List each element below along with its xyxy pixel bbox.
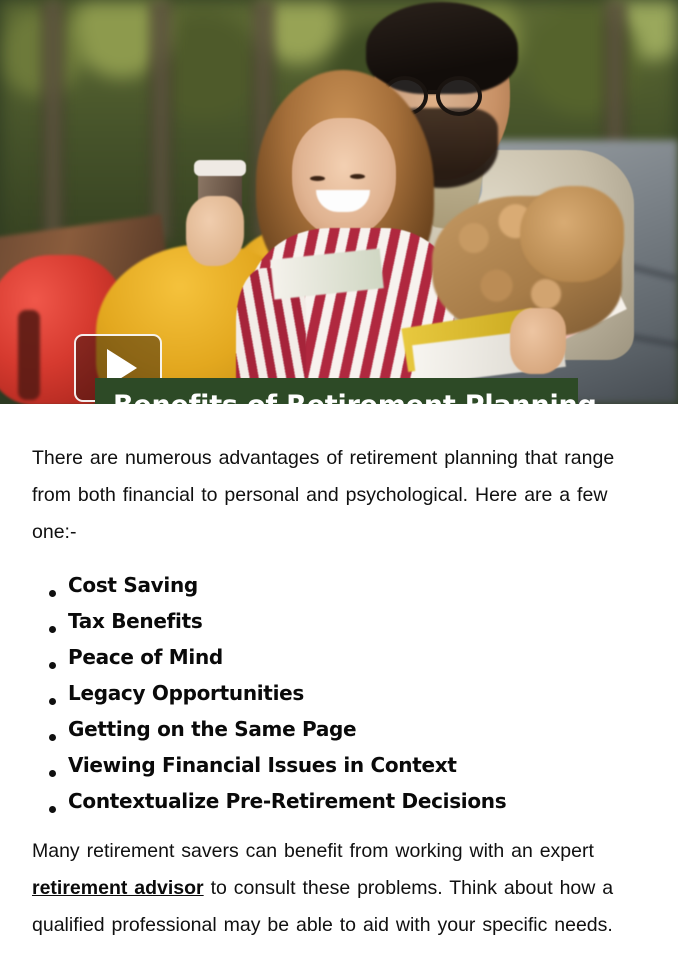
eyeglasses-bridge <box>428 90 438 94</box>
page-title: Benefits of Retirement Planning <box>95 390 597 405</box>
list-item: Contextualize Pre-Retirement Decisions <box>32 783 646 819</box>
outro-text-before: Many retirement savers can benefit from … <box>32 840 594 862</box>
eyeglasses <box>436 76 482 116</box>
dog-head <box>520 186 624 282</box>
outro-paragraph: Many retirement savers can benefit from … <box>32 833 646 944</box>
list-item: Viewing Financial Issues in Context <box>32 747 646 783</box>
woman-hand <box>186 196 244 266</box>
man-hand <box>510 308 566 374</box>
article-page: Benefits of Retirement Planning There ar… <box>0 0 678 960</box>
woman-face <box>292 118 396 238</box>
list-item: Legacy Opportunities <box>32 675 646 711</box>
backpack-strap <box>18 310 40 400</box>
retirement-advisor-link[interactable]: retirement advisor <box>32 877 204 899</box>
benefits-list: Cost Saving Tax Benefits Peace of Mind L… <box>32 567 646 819</box>
coffee-cup-lid <box>194 160 246 176</box>
list-item: Getting on the Same Page <box>32 711 646 747</box>
intro-paragraph: There are numerous advantages of retirem… <box>32 440 646 551</box>
hero-video-thumbnail[interactable]: Benefits of Retirement Planning <box>0 0 678 404</box>
hero-title-banner: Benefits of Retirement Planning <box>95 378 578 404</box>
list-item: Cost Saving <box>32 567 646 603</box>
article-body: There are numerous advantages of retirem… <box>0 440 678 944</box>
woman-eye <box>350 174 365 179</box>
woman-eye <box>310 176 325 181</box>
list-item: Tax Benefits <box>32 603 646 639</box>
tree-trunk <box>150 0 172 240</box>
tree-trunk <box>42 0 64 240</box>
list-item: Peace of Mind <box>32 639 646 675</box>
